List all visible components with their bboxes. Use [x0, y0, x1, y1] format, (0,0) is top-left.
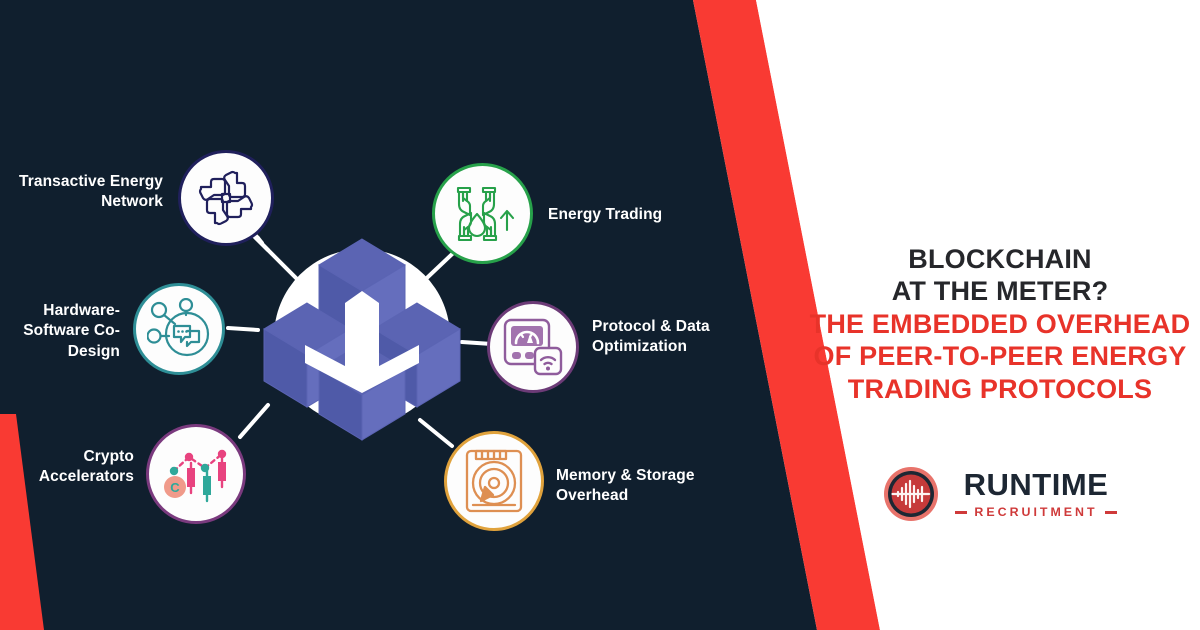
logo-dash-left: [955, 511, 967, 514]
title-line-3: THE EMBEDDED OVERHEAD: [800, 308, 1200, 340]
brand-logo[interactable]: RUNTIME RECRUITMENT: [800, 466, 1200, 522]
network-chat-nodes-icon: [147, 298, 211, 360]
logo-word-runtime: RUNTIME: [964, 469, 1109, 500]
label-protocol-data-optimization: Protocol & Data Optimization: [592, 317, 742, 358]
node-memory-storage-overhead[interactable]: [444, 431, 544, 531]
logo-subtitle-row: RECRUITMENT: [955, 506, 1116, 518]
page-title: BLOCKCHAIN AT THE METER? THE EMBEDDED OV…: [800, 243, 1200, 405]
node-crypto-accelerators[interactable]: C: [146, 424, 246, 524]
label-memory-storage-overhead: Memory & Storage Overhead: [556, 466, 756, 507]
waveform-circle-icon: [883, 466, 939, 522]
smart-meter-wifi-icon: [502, 317, 564, 377]
hard-disk-drive-icon: [463, 447, 525, 515]
title-line-5: TRADING PROTOCOLS: [800, 373, 1200, 405]
node-energy-trading[interactable]: [432, 163, 533, 264]
hub-blockchain-cubes-icon: [245, 225, 480, 450]
four-hands-teamwork-icon: [195, 167, 257, 229]
hands-droplet-arrow-icon: [450, 182, 516, 246]
title-line-2: AT THE METER?: [800, 275, 1200, 307]
concept-diagram: Transactive Energy Network: [0, 0, 760, 630]
label-hardware-software-co-design: Hardware-Software Co-Design: [0, 301, 120, 362]
logo-dash-right: [1105, 511, 1117, 514]
title-line-4: OF PEER-TO-PEER ENERGY: [800, 340, 1200, 372]
label-energy-trading: Energy Trading: [548, 205, 738, 225]
svg-text:C: C: [170, 480, 180, 495]
node-transactive-energy-network[interactable]: [178, 150, 274, 246]
label-crypto-accelerators: Crypto Accelerators: [0, 447, 134, 488]
title-line-1: BLOCKCHAIN: [800, 243, 1200, 275]
banner-canvas: Transactive Energy Network: [0, 0, 1200, 630]
logo-wordmark: RUNTIME RECRUITMENT: [955, 469, 1116, 518]
candlestick-chart-coin-icon: C: [162, 443, 230, 505]
node-protocol-data-optimization[interactable]: [487, 301, 579, 393]
title-panel: BLOCKCHAIN AT THE METER? THE EMBEDDED OV…: [800, 0, 1200, 630]
node-hardware-software-co-design[interactable]: [133, 283, 225, 375]
logo-subtitle: RECRUITMENT: [974, 506, 1097, 518]
label-transactive-energy-network: Transactive Energy Network: [0, 172, 163, 213]
